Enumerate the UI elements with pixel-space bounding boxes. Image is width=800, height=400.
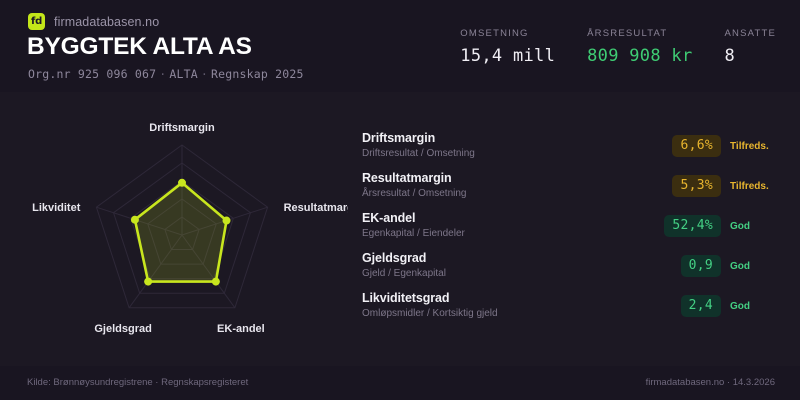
metric-row-driftsmargin[interactable]: Driftsmargin Driftsresultat / Omsetning … xyxy=(362,126,782,166)
stat-ansatte: ANSATTE 8 xyxy=(724,28,776,66)
header-bar: fd firmadatabasen.no BYGGTEK ALTA AS Org… xyxy=(0,0,800,92)
metric-name: Gjeldsgrad xyxy=(362,251,681,266)
radar-point-resultatmargin xyxy=(223,217,231,225)
metric-formula: Årsresultat / Omsetning xyxy=(362,187,672,201)
metric-text: Driftsmargin Driftsresultat / Omsetning xyxy=(362,131,672,161)
meta-separator-1: · xyxy=(156,67,169,81)
metric-text: Gjeldsgrad Gjeld / Egenkapital xyxy=(362,251,681,281)
metric-value-badge: 6,6% xyxy=(672,135,721,157)
radar-point-driftsmargin xyxy=(178,179,186,187)
radar-label-ek-andel: EK-andel xyxy=(217,323,265,335)
metric-formula: Driftsresultat / Omsetning xyxy=(362,147,672,161)
metric-right: 5,3% Tilfreds. xyxy=(672,175,782,197)
metric-text: EK-andel Egenkapital / Eiendeler xyxy=(362,211,664,241)
company-meta: Org.nr 925 096 067·ALTA·Regnskap 2025 xyxy=(28,67,304,81)
radar-label-driftsmargin: Driftsmargin xyxy=(149,122,215,134)
stat-value: 8 xyxy=(724,46,776,66)
metric-value-badge: 52,4% xyxy=(664,215,721,237)
status-badge: God xyxy=(730,221,782,232)
radar-point-likviditet xyxy=(131,216,139,224)
status-badge: God xyxy=(730,261,782,272)
metric-name: Resultatmargin xyxy=(362,171,672,186)
accounting-period: Regnskap 2025 xyxy=(211,67,304,81)
radar-label-resultatmargin: Resultatmargin xyxy=(284,202,348,214)
metric-row-ek-andel[interactable]: EK-andel Egenkapital / Eiendeler 52,4% G… xyxy=(362,206,782,246)
radar-label-likviditet: Likviditet xyxy=(32,202,81,214)
firmadatabasen-logo-icon: fd xyxy=(28,13,45,30)
radar-label-gjeldsgrad: Gjeldsgrad xyxy=(94,323,151,335)
metric-formula: Gjeld / Egenkapital xyxy=(362,267,681,281)
metric-row-likviditetsgrad[interactable]: Likviditetsgrad Omløpsmidler / Kortsikti… xyxy=(362,286,782,326)
org-number: Org.nr 925 096 067 xyxy=(28,67,156,81)
radar-chart-svg: DriftsmarginResultatmarginEK-andelGjelds… xyxy=(0,92,348,360)
metrics-list: Driftsmargin Driftsresultat / Omsetning … xyxy=(362,126,782,326)
radar-chart: DriftsmarginResultatmarginEK-andelGjelds… xyxy=(0,92,348,360)
metric-formula: Egenkapital / Eiendeler xyxy=(362,227,664,241)
metric-formula: Omløpsmidler / Kortsiktig gjeld xyxy=(362,307,681,321)
stat-label: OMSETNING xyxy=(460,28,555,39)
metric-row-gjeldsgrad[interactable]: Gjeldsgrad Gjeld / Egenkapital 0,9 God xyxy=(362,246,782,286)
status-badge: Tilfreds. xyxy=(730,181,782,192)
metric-right: 6,6% Tilfreds. xyxy=(672,135,782,157)
metric-row-resultatmargin[interactable]: Resultatmargin Årsresultat / Omsetning 5… xyxy=(362,166,782,206)
metric-value-badge: 2,4 xyxy=(681,295,721,317)
footer-bar: Kilde: Brønnøysundregistrene · Regnskaps… xyxy=(0,366,800,400)
metric-text: Likviditetsgrad Omløpsmidler / Kortsikti… xyxy=(362,291,681,321)
infographic-card: fd firmadatabasen.no BYGGTEK ALTA AS Org… xyxy=(0,0,800,400)
status-badge: God xyxy=(730,301,782,312)
stat-value: 809 908 kr xyxy=(587,46,692,66)
radar-point-gjeldsgrad xyxy=(144,278,152,286)
header-stats: OMSETNING 15,4 mill ÅRSRESULTAT 809 908 … xyxy=(460,28,776,66)
brand[interactable]: fd firmadatabasen.no xyxy=(28,13,159,30)
metric-right: 2,4 God xyxy=(681,295,782,317)
brand-name: firmadatabasen.no xyxy=(54,15,159,29)
metric-name: EK-andel xyxy=(362,211,664,226)
footer-source: Kilde: Brønnøysundregistrene · Regnskaps… xyxy=(27,377,248,388)
footer-site-date: firmadatabasen.no · 14.3.2026 xyxy=(646,377,775,388)
metric-right: 0,9 God xyxy=(681,255,782,277)
metric-right: 52,4% God xyxy=(664,215,782,237)
stat-label: ÅRSRESULTAT xyxy=(587,28,692,39)
metric-name: Likviditetsgrad xyxy=(362,291,681,306)
meta-separator-2: · xyxy=(198,67,211,81)
radar-series-polygon xyxy=(135,183,227,282)
radar-point-ek-andel xyxy=(212,278,220,286)
stat-value: 15,4 mill xyxy=(460,46,555,66)
metric-value-badge: 5,3% xyxy=(672,175,721,197)
stat-omsetning: OMSETNING 15,4 mill xyxy=(460,28,555,66)
company-place: ALTA xyxy=(169,67,198,81)
metric-value-badge: 0,9 xyxy=(681,255,721,277)
stat-label: ANSATTE xyxy=(724,28,776,39)
page-title: BYGGTEK ALTA AS xyxy=(27,33,252,61)
metric-text: Resultatmargin Årsresultat / Omsetning xyxy=(362,171,672,201)
status-badge: Tilfreds. xyxy=(730,141,782,152)
metric-name: Driftsmargin xyxy=(362,131,672,146)
stat-arsresultat: ÅRSRESULTAT 809 908 kr xyxy=(587,28,692,66)
